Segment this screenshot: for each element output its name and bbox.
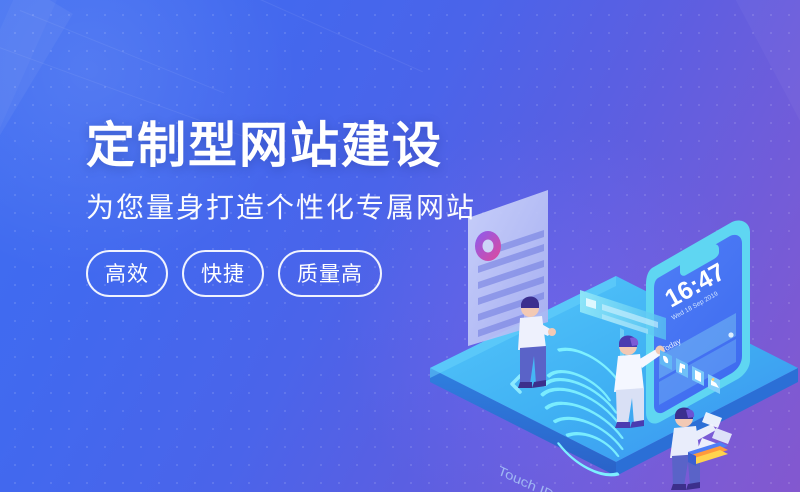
- banner-copy: 定制型网站建设 为您量身打造个性化专属网站 高效 快捷 质量高: [86, 118, 486, 297]
- headline: 定制型网站建设: [86, 118, 486, 175]
- feature-pill-quality[interactable]: 质量高: [278, 250, 382, 297]
- promo-banner: 定制型网站建设 为您量身打造个性化专属网站 高效 快捷 质量高: [0, 0, 800, 492]
- touch-id-label: Touch ID: [497, 463, 554, 492]
- subheadline: 为您量身打造个性化专属网站: [86, 191, 486, 225]
- feature-pill-efficient[interactable]: 高效: [86, 250, 168, 297]
- feature-pill-fast[interactable]: 快捷: [182, 250, 264, 297]
- feature-pill-group: 高效 快捷 质量高: [86, 250, 486, 297]
